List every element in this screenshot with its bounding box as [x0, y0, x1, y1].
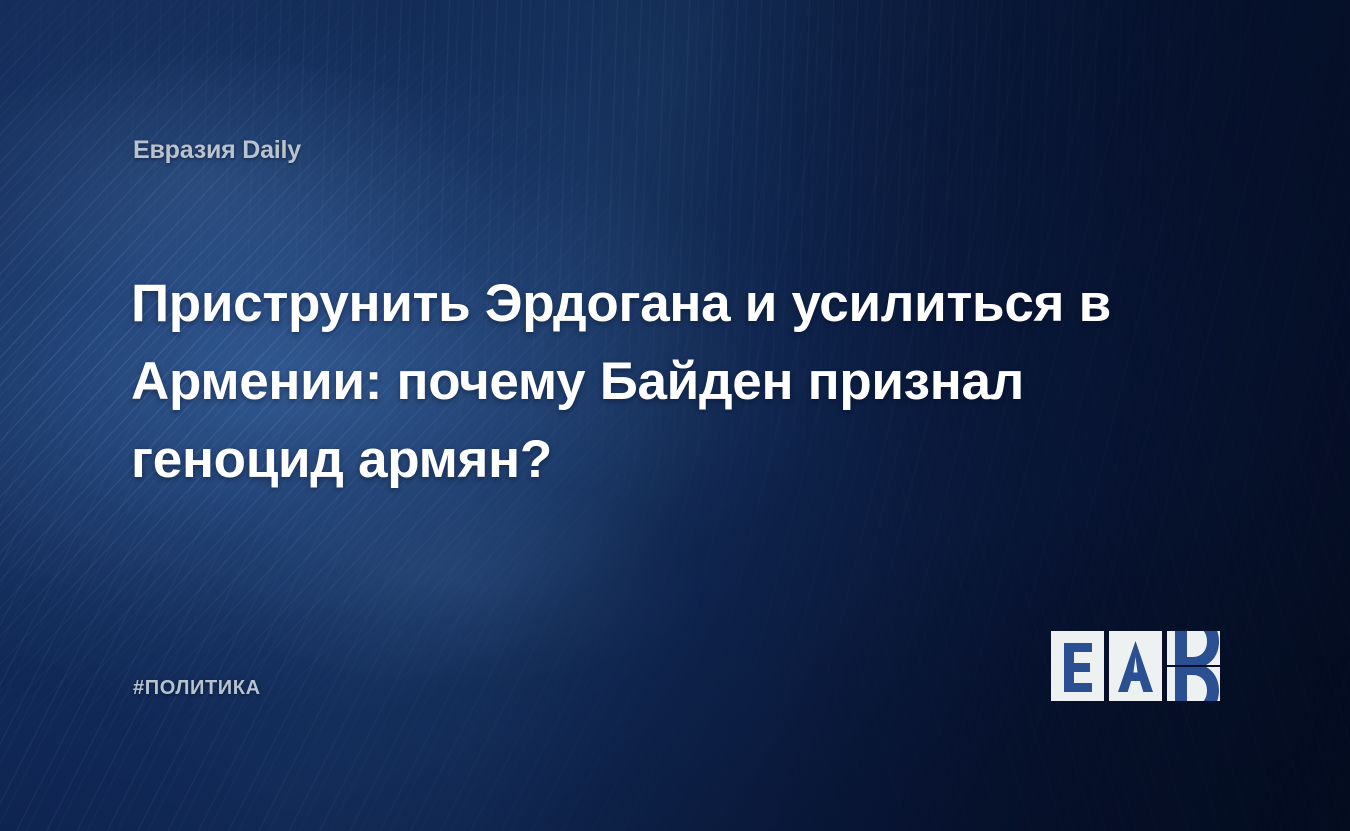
letter-d-lower-half-icon — [1167, 667, 1220, 701]
letter-a-icon — [1109, 631, 1162, 701]
social-share-card: Евразия Daily Приструнить Эрдогана и уси… — [0, 0, 1350, 831]
letter-d-split-icon-top — [1167, 631, 1220, 665]
eadaily-logo — [1051, 631, 1221, 701]
logo-tile-a — [1109, 631, 1162, 701]
letter-d-split-icon-bottom — [1167, 667, 1220, 701]
category-tag: #ПОЛИТИКА — [133, 677, 261, 700]
publication-brand-name: Евразия Daily — [133, 136, 301, 165]
logo-tile-d — [1167, 631, 1220, 701]
article-headline: Приструнить Эрдогана и усилиться в Армен… — [131, 265, 1131, 499]
logo-tile-e — [1051, 631, 1104, 701]
card-content: Евразия Daily Приструнить Эрдогана и уси… — [0, 0, 1350, 831]
letter-e-icon — [1051, 631, 1104, 701]
letter-d-upper-half-icon — [1167, 631, 1220, 665]
